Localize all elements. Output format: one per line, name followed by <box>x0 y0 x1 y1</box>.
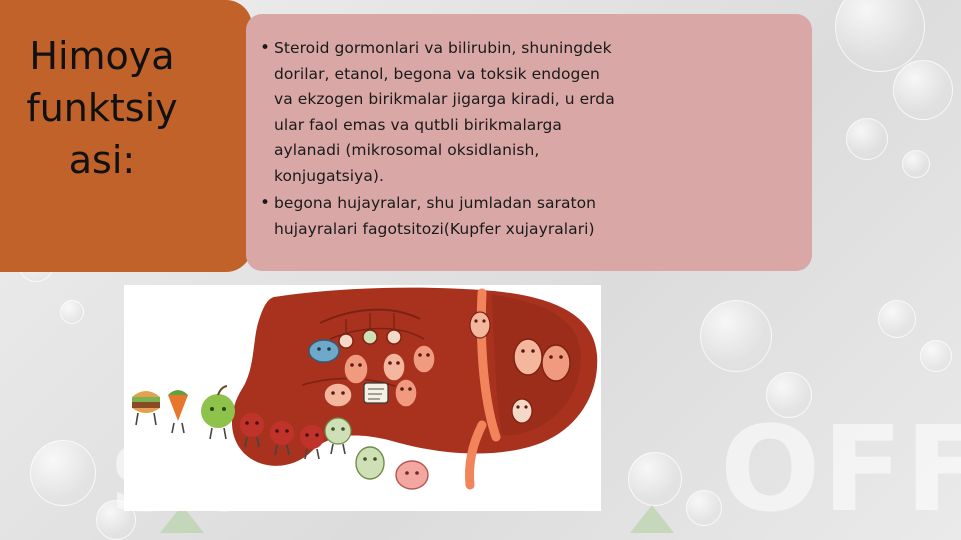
background-bubble <box>30 440 96 506</box>
decorative-arrow-icon <box>630 505 674 533</box>
background-bubble <box>628 452 682 506</box>
background-bubble <box>60 300 84 324</box>
background-bubble <box>902 150 930 178</box>
background-bubble <box>878 300 916 338</box>
background-bubble <box>893 60 953 120</box>
slide-canvas: son OFF Himoya funktsiy asi: • Steroid g… <box>0 0 961 540</box>
page-title: Himoya funktsiy asi: <box>0 30 252 186</box>
watermark-right: OFF <box>720 400 961 538</box>
liver-illustration-svg <box>124 285 601 511</box>
list-item: • Steroid gormonlari va bilirubin, shuni… <box>260 36 800 189</box>
list-item: • begona hujayralar, shu jumladan sarato… <box>260 191 800 242</box>
list-item-text: begona hujayralar, shu jumladan saraton … <box>274 191 800 242</box>
background-bubble <box>920 340 952 372</box>
background-bubble <box>835 0 925 72</box>
bullet-icon: • <box>260 191 274 216</box>
body-text-block: • Steroid gormonlari va bilirubin, shuni… <box>246 14 812 271</box>
background-bubble <box>846 118 888 160</box>
liver-illustration-image <box>124 285 601 511</box>
list-item-text: Steroid gormonlari va bilirubin, shuning… <box>274 36 800 189</box>
background-bubble <box>700 300 772 372</box>
background-bubble <box>766 372 812 418</box>
background-bubble <box>686 490 722 526</box>
bullet-icon: • <box>260 36 274 61</box>
title-block: Himoya funktsiy asi: <box>0 0 252 272</box>
